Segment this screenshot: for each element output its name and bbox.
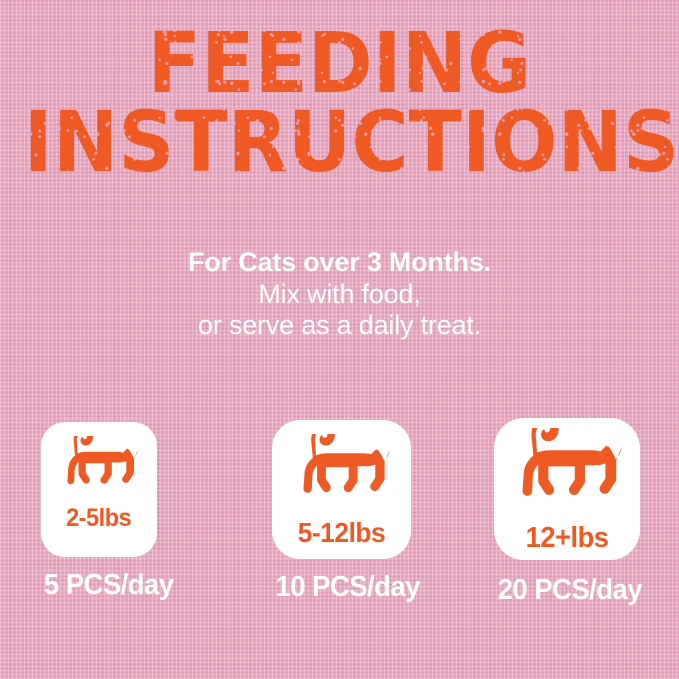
dosage-card-small[interactable]: 2-5lbs [41, 422, 157, 557]
subtitle-line-1: For Cats over 3 Months. [0, 247, 679, 279]
dose-label-large: 20 PCS/day [498, 576, 637, 605]
subtitle-block: For Cats over 3 Months. Mix with food, o… [0, 247, 679, 342]
weight-label-medium: 5-12lbs [298, 519, 385, 547]
dosage-cards-row: 2-5lbs 5 PCS/day 5-12lbs 10 PCS/day [0, 412, 679, 612]
dose-label-small: 5 PCS/day [44, 571, 154, 600]
headline-line-instructions: INSTRUCTIONS [24, 105, 655, 181]
weight-label-small: 2-5lbs [66, 506, 131, 531]
dosage-card-large[interactable]: 12+lbs [494, 418, 640, 560]
subtitle-line-3: or serve as a daily treat. [0, 310, 679, 342]
cat-silhouette-small-icon [56, 436, 142, 500]
dosage-card-group-medium: 5-12lbs 10 PCS/day [272, 420, 411, 602]
dosage-card-group-large: 12+lbs 20 PCS/day [494, 418, 640, 605]
dosage-card-group-small: 2-5lbs 5 PCS/day [41, 422, 157, 600]
feeding-instructions-poster: FEEDING INSTRUCTIONS For Cats over 3 Mon… [0, 0, 679, 679]
dose-label-medium: 10 PCS/day [275, 573, 407, 602]
dosage-card-medium[interactable]: 5-12lbs [272, 420, 411, 559]
cat-silhouette-medium-icon [290, 434, 394, 512]
headline-line-feeding: FEEDING [24, 26, 655, 102]
cat-silhouette-large-icon [507, 428, 627, 518]
weight-label-large: 12+lbs [526, 524, 609, 553]
subtitle-line-2: Mix with food, [0, 279, 679, 311]
